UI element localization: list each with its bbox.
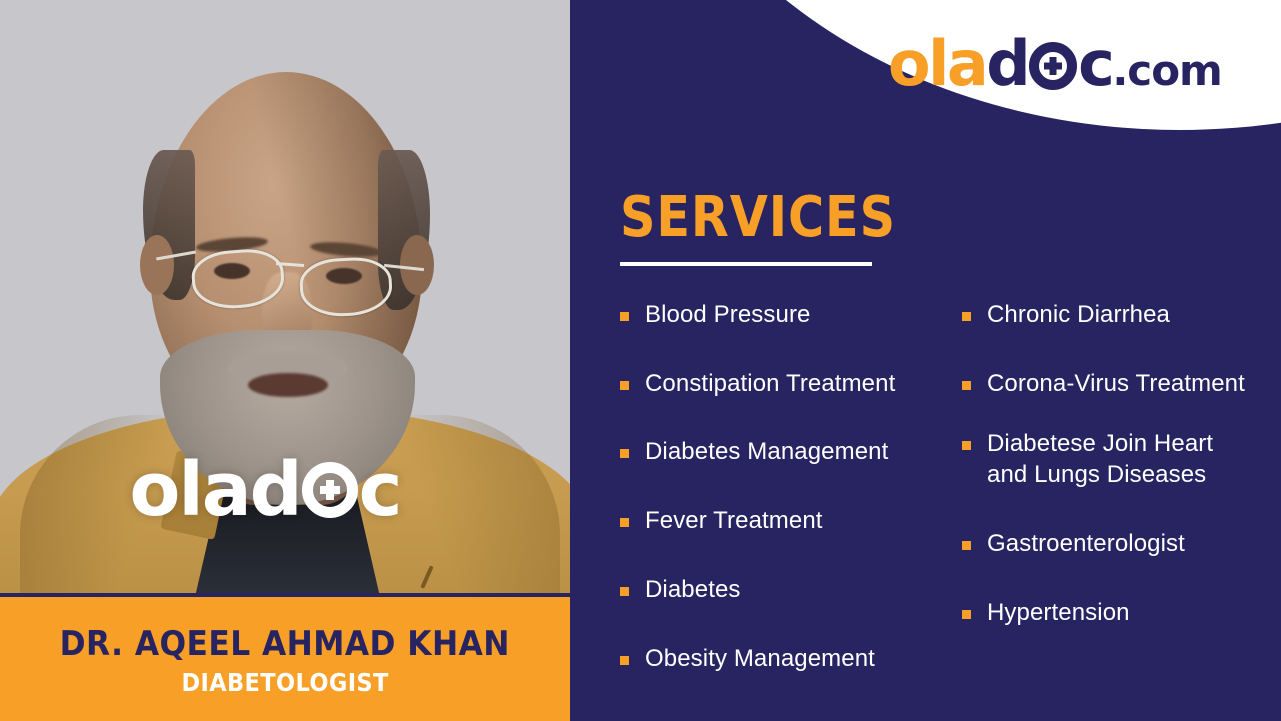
service-label: Blood Pressure [645,300,811,331]
o-plus-icon [1029,42,1077,90]
square-bullet-icon [620,587,629,596]
services-heading-underline [620,262,872,266]
service-label: Diabetes Management [645,437,888,468]
square-bullet-icon [620,656,629,665]
doctor-specialty: DIABETOLOGIST [181,669,388,697]
doctor-profile-card: oladc DR. AQEEL AHMAD KHAN DIABETOLOGIST… [0,0,1281,721]
doctor-name-banner: DR. AQEEL AHMAD KHAN DIABETOLOGIST [0,597,570,721]
services-heading-group: SERVICES [620,190,934,266]
square-bullet-icon [962,441,971,450]
list-item[interactable]: Diabetes Management [620,437,939,468]
list-item[interactable]: Constipation Treatment [620,369,939,400]
mouth-shape [248,373,328,397]
square-bullet-icon [620,449,629,458]
service-label: Fever Treatment [645,506,823,537]
doctor-photo: oladc [0,0,570,593]
logo-text-c: c [1078,27,1112,100]
ear-left [140,235,174,295]
square-bullet-icon [962,312,971,321]
service-label: Diabetes [645,575,741,606]
square-bullet-icon [962,541,971,550]
list-item[interactable]: Chronic Diarrhea [962,300,1281,331]
service-label: Obesity Management [645,644,875,675]
watermark-text-ola: ola [130,447,250,533]
oladoc-watermark: oladc [120,455,410,525]
service-label: Gastroenterologist [987,529,1185,560]
service-label: Corona-Virus Treatment [987,369,1245,400]
services-panel: oladc.com SERVICES Blood Pressure Consti… [570,0,1281,721]
list-item[interactable]: Corona-Virus Treatment [962,369,1281,400]
list-item[interactable]: Blood Pressure [620,300,939,331]
list-item[interactable]: Hypertension [962,598,1281,629]
square-bullet-icon [962,381,971,390]
services-heading: SERVICES [620,190,896,246]
services-columns: Blood Pressure Constipation Treatment Di… [584,300,1281,712]
ear-right [400,235,434,295]
list-item[interactable]: Diabetese Join Heart and Lungs Diseases [962,429,1281,490]
service-label: Chronic Diarrhea [987,300,1170,331]
list-item[interactable]: Fever Treatment [620,506,939,537]
watermark-text-c: c [359,447,401,533]
watermark-text-d: d [250,447,301,533]
services-column-left: Blood Pressure Constipation Treatment Di… [584,300,939,712]
oladoc-logo[interactable]: oladc.com [888,33,1222,95]
logo-text-dotcom: .com [1112,46,1221,95]
doctor-name: DR. AQEEL AHMAD KHAN [60,626,510,663]
o-plus-icon [302,462,358,518]
square-bullet-icon [620,312,629,321]
list-item[interactable]: Diabetes [620,575,939,606]
square-bullet-icon [962,610,971,619]
logo-text-d: d [986,27,1028,100]
service-label: Diabetese Join Heart and Lungs Diseases [987,429,1213,490]
list-item[interactable]: Obesity Management [620,644,939,675]
services-column-right: Chronic Diarrhea Corona-Virus Treatment … [939,300,1281,712]
service-label: Hypertension [987,598,1130,629]
list-item[interactable]: Gastroenterologist [962,529,1281,560]
logo-text-ola: ola [888,27,986,100]
square-bullet-icon [620,518,629,527]
service-label: Constipation Treatment [645,369,895,400]
square-bullet-icon [620,381,629,390]
